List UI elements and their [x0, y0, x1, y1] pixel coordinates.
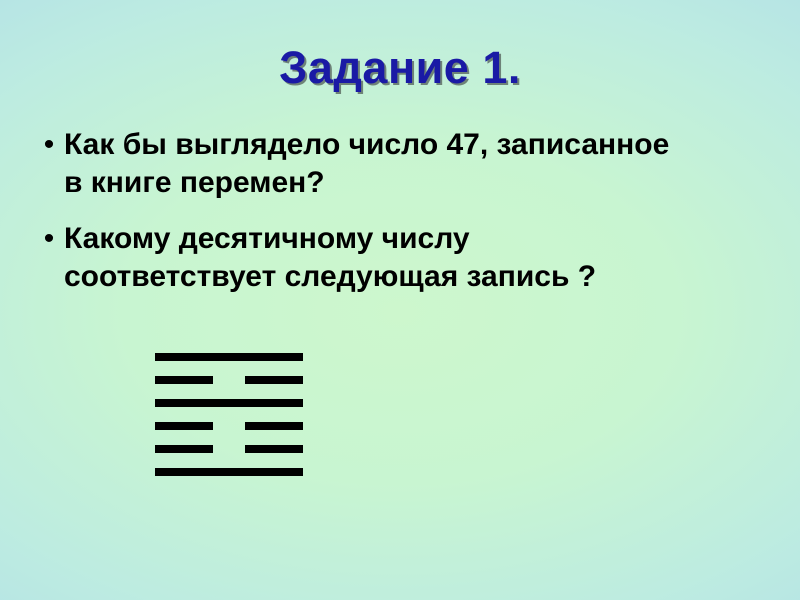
- page-title: Задание 1.: [279, 42, 521, 94]
- hexagram-line-6: [155, 468, 303, 491]
- hexagram-segment-right: [245, 422, 303, 430]
- hexagram-segment-full: [155, 399, 303, 407]
- hexagram-line-1: [155, 353, 303, 376]
- hexagram-line-4: [155, 422, 303, 445]
- list-item-label: Какому десятичному числу соответствует с…: [64, 220, 684, 296]
- hexagram-line-5: [155, 445, 303, 468]
- hexagram-line-3: [155, 399, 303, 422]
- hexagram-segment-full: [155, 468, 303, 476]
- bullet-point-icon: •: [34, 126, 64, 164]
- hexagram-segment-right: [245, 376, 303, 384]
- hexagram-segment-full: [155, 353, 303, 361]
- bullet-list: • Как бы выглядело число 47, записанное …: [34, 126, 764, 314]
- list-item: • Как бы выглядело число 47, записанное …: [34, 126, 764, 202]
- title-block: Задание 1.: [0, 42, 800, 94]
- hexagram-segment-left: [155, 445, 213, 453]
- hexagram-line-2: [155, 376, 303, 399]
- hexagram-segment-left: [155, 422, 213, 430]
- list-item: • Какому десятичному числу соответствует…: [34, 220, 764, 296]
- slide-canvas: Задание 1. • Как бы выглядело число 47, …: [0, 0, 800, 600]
- hexagram-segment-right: [245, 445, 303, 453]
- hexagram-segment-left: [155, 376, 213, 384]
- hexagram-figure: [155, 353, 303, 491]
- list-item-label: Как бы выглядело число 47, записанное в …: [64, 126, 684, 202]
- bullet-point-icon: •: [34, 220, 64, 258]
